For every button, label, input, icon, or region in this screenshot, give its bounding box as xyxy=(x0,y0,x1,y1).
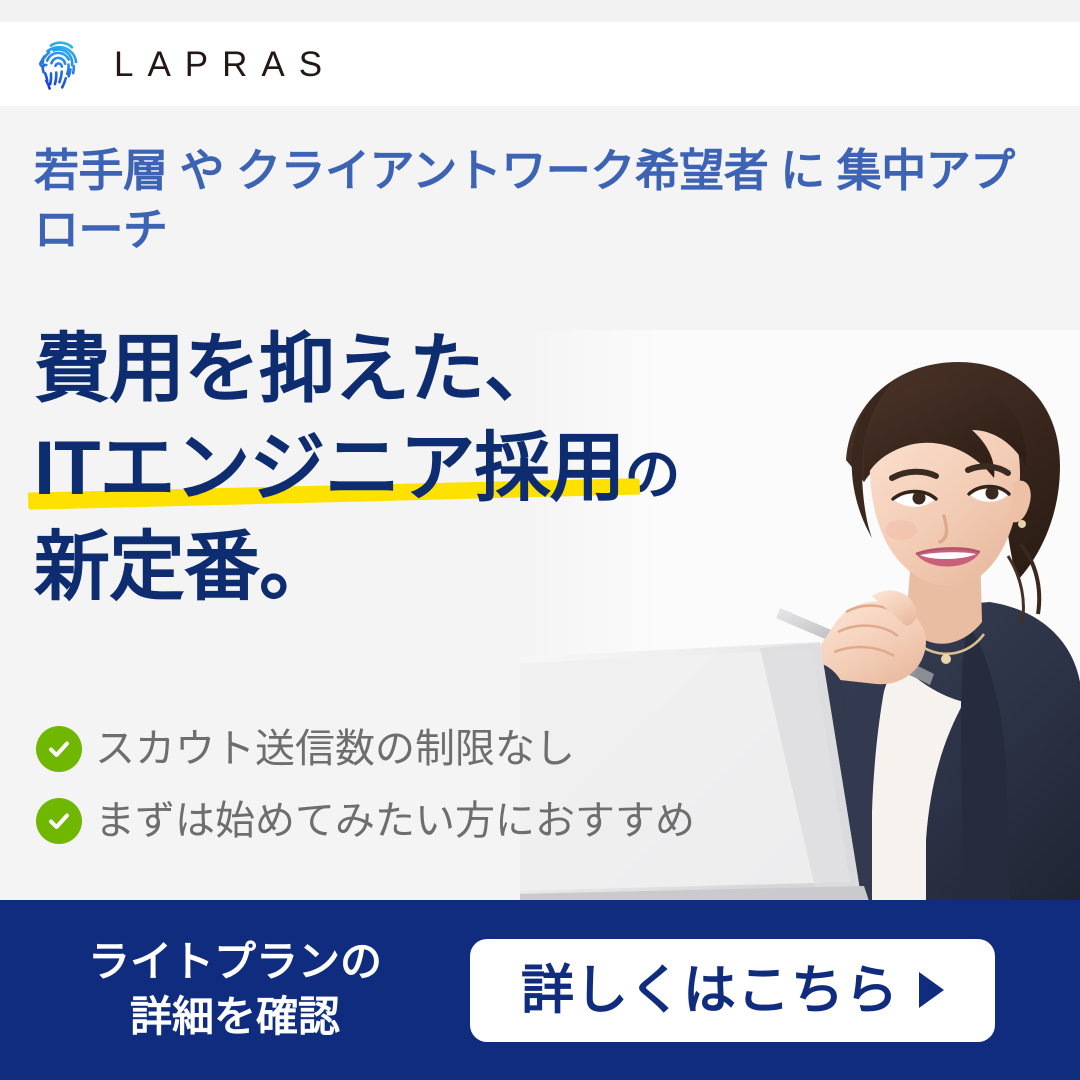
details-button[interactable]: 詳しくはこちら xyxy=(470,939,995,1042)
headline: 費用を抑えた、 ITエンジニア採用 の 新定番。 xyxy=(34,321,794,617)
headline-highlighted-text: ITエンジニア採用 xyxy=(34,426,625,511)
cta-caption-line-2: 詳細を確認 xyxy=(0,990,470,1045)
content-area: 若手層 や クライアントワーク希望者 に 集中アプローチ 費用を抑えた、 ITエ… xyxy=(0,106,1080,900)
headline-line-3: 新定番。 xyxy=(34,519,794,618)
subheadline-line-1: 若手層 や クライアントワーク希望者 に xyxy=(34,145,825,196)
cta-caption-line-1: ライトプランの xyxy=(0,935,470,990)
headline-line-2-tail: の xyxy=(625,443,680,506)
list-item: まずは始めてみたい方におすすめ xyxy=(36,798,695,844)
headline-line-2: ITエンジニア採用 の xyxy=(34,420,794,519)
feature-list: スカウト送信数の制限なし まずは始めてみたい方におすすめ xyxy=(36,726,695,870)
brand-logo[interactable]: LAPRAS xyxy=(32,35,336,93)
details-button-label: 詳しくはこちら xyxy=(521,964,899,1017)
cta-caption: ライトプランの 詳細を確認 xyxy=(0,935,470,1044)
top-strip xyxy=(0,0,1080,22)
list-item-label: スカウト送信数の制限なし xyxy=(95,729,575,769)
triangle-right-icon xyxy=(919,972,944,1008)
check-circle-icon xyxy=(36,726,82,772)
cta-bar: ライトプランの 詳細を確認 詳しくはこちら xyxy=(0,900,1080,1080)
headline-line-1: 費用を抑えた、 xyxy=(34,321,794,420)
list-item-label: まずは始めてみたい方におすすめ xyxy=(95,801,695,841)
headline-highlighted-phrase: ITエンジニア採用 xyxy=(34,420,625,519)
brand-wordmark: LAPRAS xyxy=(114,47,336,82)
list-item: スカウト送信数の制限なし xyxy=(36,726,695,772)
lapras-banner-ad: LAPRAS xyxy=(0,0,1080,1080)
check-circle-icon xyxy=(36,798,82,844)
fingerprint-head-icon xyxy=(32,35,88,93)
header-bar: LAPRAS xyxy=(0,22,1080,106)
subheadline: 若手層 や クライアントワーク希望者 に 集中アプローチ xyxy=(34,142,1024,259)
